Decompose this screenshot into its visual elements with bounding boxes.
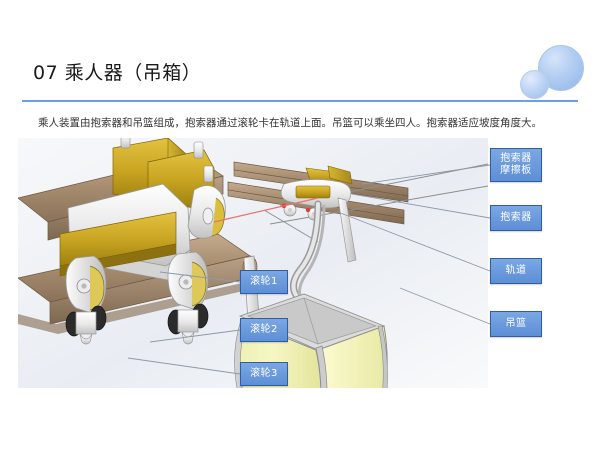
title-divider <box>22 100 578 102</box>
callout-roller-2[interactable]: 滚轮2 <box>240 318 288 342</box>
callout-friction-plate-line1: 抱索器 <box>500 153 532 164</box>
decorative-circle-large-icon <box>538 45 584 91</box>
illustration-figure <box>18 138 488 388</box>
callout-cabin[interactable]: 吊篮 <box>490 311 542 337</box>
callout-friction-plate-line2: 摩擦板 <box>500 165 532 176</box>
callout-track[interactable]: 轨道 <box>490 258 542 284</box>
page-subtitle: 乘人装置由抱索器和吊篮组成，抱索器通过滚轮卡在轨道上面。吊篮可以乘坐四人。抱索器… <box>38 116 578 131</box>
callout-roller-1[interactable]: 滚轮1 <box>240 270 288 294</box>
page-title: 07 乘人器（吊箱） <box>33 58 201 85</box>
slide-canvas: 07 乘人器（吊箱） 乘人装置由抱索器和吊篮组成，抱索器通过滚轮卡在轨道上面。吊… <box>0 0 600 450</box>
callout-roller-3[interactable]: 滚轮3 <box>240 362 288 386</box>
decorative-circle-small-icon <box>520 70 549 99</box>
callout-friction-plate[interactable]: 抱索器 摩擦板 <box>490 148 542 182</box>
callout-grip[interactable]: 抱索器 <box>490 205 542 231</box>
